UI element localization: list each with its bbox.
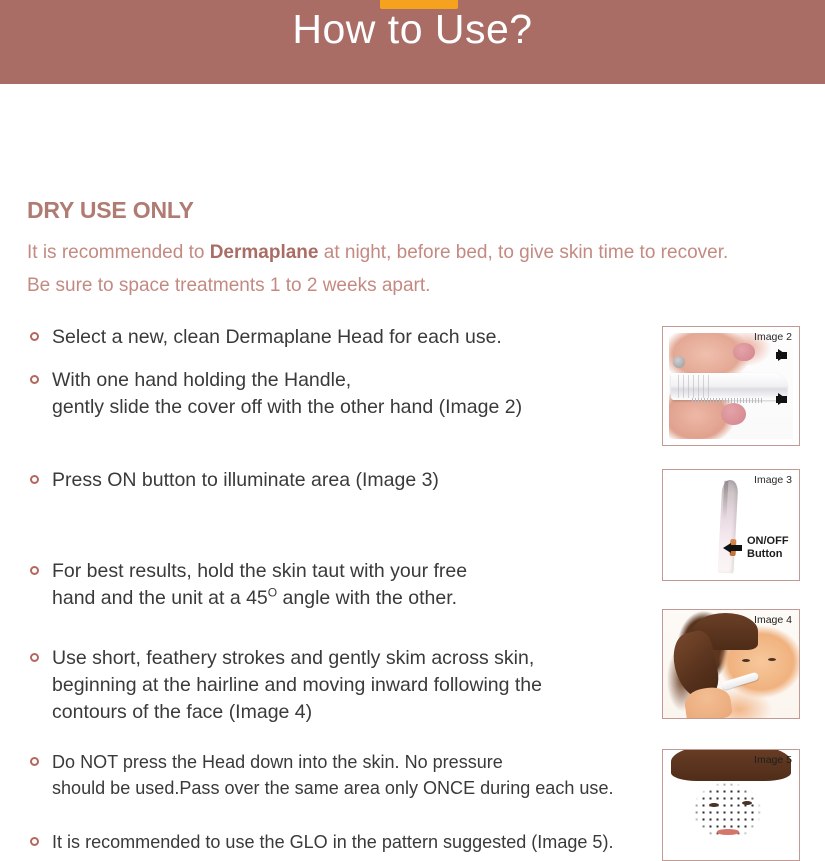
list-item-text: It is recommended to use the GLO in the … xyxy=(52,829,645,855)
bullet-icon xyxy=(30,757,39,766)
bullet-icon xyxy=(30,375,39,384)
list-item-text: With one hand holding the Handle, gently… xyxy=(52,367,650,421)
list-item: Select a new, clean Dermaplane Head for … xyxy=(30,324,650,351)
stroke-pattern-dots xyxy=(679,774,774,851)
image-2-photo xyxy=(669,333,793,439)
intro-line1-after: at night, before bed, to give skin time … xyxy=(318,242,728,263)
degree-symbol: O xyxy=(268,586,277,600)
list-item-line: hand and the unit at a 45 xyxy=(52,587,268,609)
list-item-text: Select a new, clean Dermaplane Head for … xyxy=(52,324,650,351)
list-item: It is recommended to use the GLO in the … xyxy=(30,829,660,855)
intro-line1-before: It is recommended to xyxy=(27,242,210,263)
eye xyxy=(742,801,752,805)
list-item-line: gently slide the cover off with the othe… xyxy=(52,396,522,418)
eye xyxy=(768,658,776,661)
on-off-label-line1: ON/OFF xyxy=(747,535,789,547)
dermaplane-device xyxy=(671,373,786,400)
page-content: DRY USE ONLY It is recommended to Dermap… xyxy=(0,84,825,834)
bullet-icon xyxy=(30,475,39,484)
arrow-right-icon xyxy=(778,393,787,405)
eye xyxy=(742,659,750,662)
list-item-text: Press ON button to illuminate area (Imag… xyxy=(52,467,650,494)
list-item-line-tail: angle with the other. xyxy=(277,587,457,609)
figure-image-5: Image 5 xyxy=(662,749,800,861)
image-5-photo xyxy=(663,750,799,860)
figure-caption: Image 2 xyxy=(754,331,792,343)
list-item-line: Select a new, clean Dermaplane Head for … xyxy=(52,326,502,348)
on-off-label-line2: Button xyxy=(747,548,782,560)
list-item: Press ON button to illuminate area (Imag… xyxy=(30,467,650,494)
fingernail xyxy=(721,403,746,425)
list-item-line: For best results, hold the skin taut wit… xyxy=(52,560,467,582)
fingernail xyxy=(733,343,754,361)
list-item-line: It is recommended to use the GLO in the … xyxy=(52,831,613,852)
intro-paragraph: It is recommended to Dermaplane at night… xyxy=(27,236,817,302)
list-item-line: should be used.Pass over the same area o… xyxy=(52,777,613,798)
list-item: With one hand holding the Handle, gently… xyxy=(30,367,650,421)
dermaplane-device xyxy=(721,672,760,690)
list-item-line: beginning at the hairline and moving inw… xyxy=(52,674,542,696)
intro-line2: Be sure to space treatments 1 to 2 weeks… xyxy=(27,275,430,296)
list-item-line: contours of the face (Image 4) xyxy=(52,701,312,723)
bullet-icon xyxy=(30,332,39,341)
list-item-line: Press ON button to illuminate area (Imag… xyxy=(52,469,439,491)
list-item-line: Do NOT press the Head down into the skin… xyxy=(52,751,503,772)
bullet-icon xyxy=(30,566,39,575)
fingernail xyxy=(673,356,685,368)
intro-dermaplane-emphasis: Dermaplane xyxy=(210,242,319,263)
list-item: For best results, hold the skin taut wit… xyxy=(30,558,650,612)
bullet-icon xyxy=(30,653,39,662)
list-item-line: With one hand holding the Handle, xyxy=(52,369,351,391)
figure-caption: Image 4 xyxy=(754,614,792,626)
list-item: Do NOT press the Head down into the skin… xyxy=(30,749,660,801)
list-item-text: Do NOT press the Head down into the skin… xyxy=(52,749,645,801)
figure-image-2: Image 2 xyxy=(662,326,800,446)
on-off-button-label: ON/OFF Button xyxy=(747,535,789,561)
page-title: How to Use? xyxy=(0,6,825,53)
figure-image-4: Image 4 xyxy=(662,609,800,719)
list-item-text: For best results, hold the skin taut wit… xyxy=(52,558,650,612)
figure-caption: Image 3 xyxy=(754,474,792,486)
page-header: How to Use? xyxy=(0,0,825,84)
figure-image-3: ON/OFF Button Image 3 xyxy=(662,469,800,581)
arrow-right-icon xyxy=(778,349,787,361)
bullet-icon xyxy=(30,837,39,846)
dermaplane-pen xyxy=(717,480,738,574)
list-item: Use short, feathery strokes and gently s… xyxy=(30,645,650,726)
eye xyxy=(709,803,719,807)
list-item-text: Use short, feathery strokes and gently s… xyxy=(52,645,650,726)
arrow-left-icon xyxy=(723,543,731,553)
image-4-photo xyxy=(663,610,799,718)
figure-caption: Image 5 xyxy=(754,754,792,766)
section-heading: DRY USE ONLY xyxy=(27,197,194,224)
list-item-line: Use short, feathery strokes and gently s… xyxy=(52,647,534,669)
